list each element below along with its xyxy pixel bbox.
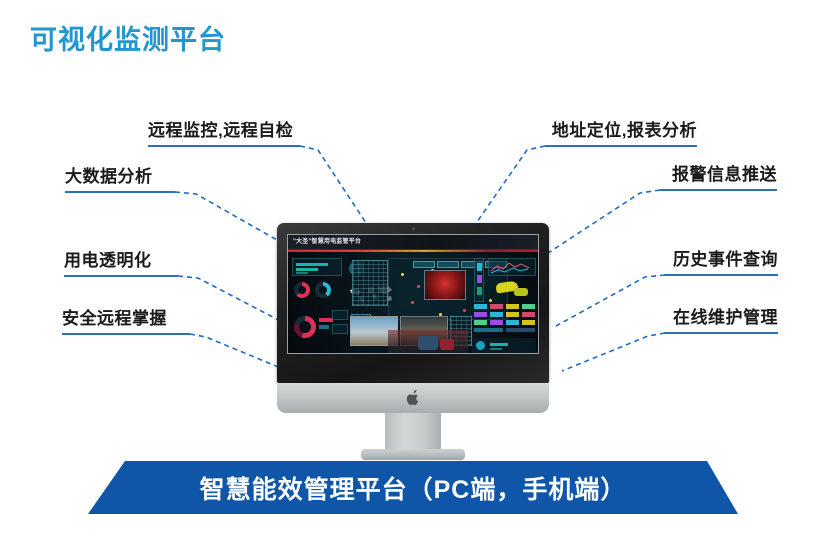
feature-location-report[interactable]: 地址定位,报表分析 <box>545 120 697 147</box>
connector-remote-safety <box>190 334 288 371</box>
feature-label: 安全远程掌握 <box>62 308 190 330</box>
connector-location-report <box>470 146 545 232</box>
feature-underline <box>545 145 697 147</box>
feature-underline <box>664 332 778 334</box>
feature-power-transparency[interactable]: 用电透明化 <box>64 250 178 277</box>
monitor-screen[interactable]: "大圣"智慧用电监管平台 <box>287 234 539 354</box>
widget-tile-b <box>332 324 348 334</box>
dashboard-title: "大圣"智慧用电监管平台 <box>293 236 361 245</box>
feature-history-query[interactable]: 历史事件查询 <box>664 249 778 276</box>
monitor-chin <box>277 383 549 413</box>
feature-big-data-analysis[interactable]: 大数据分析 <box>65 166 175 193</box>
page-title: 可视化监测平台 <box>30 18 226 57</box>
feature-label: 报警信息推送 <box>660 164 777 186</box>
feature-label: 在线维护管理 <box>664 307 778 329</box>
dashboard-header: "大圣"智慧用电监管平台 <box>288 235 538 250</box>
feature-label: 用电透明化 <box>64 250 178 272</box>
widget-grid-table <box>352 260 388 306</box>
feature-remote-monitoring[interactable]: 远程监控,远程自检 <box>148 120 300 147</box>
monitor-stand-base <box>361 449 465 460</box>
dashboard-tab-0[interactable] <box>413 261 435 268</box>
feature-label: 大数据分析 <box>65 166 175 188</box>
dashboard-tab-1[interactable] <box>437 261 459 268</box>
widget-donut-row <box>292 280 346 302</box>
feature-alarm-push[interactable]: 报警信息推送 <box>660 164 777 191</box>
feature-label: 历史事件查询 <box>664 249 778 271</box>
monitor-bezel: "大圣"智慧用电监管平台 <box>277 223 549 383</box>
widget-line-chart <box>488 258 536 276</box>
feature-underline <box>148 145 300 147</box>
feature-label: 地址定位,报表分析 <box>545 120 697 142</box>
feature-underline <box>664 274 778 276</box>
monitor-stand-neck <box>385 413 441 453</box>
webcam-icon <box>412 227 415 230</box>
poster-canvas: 可视化监测平台 远程监控,远程自检 大数据分析 用电透明化 安全远程掌握 <box>0 0 820 546</box>
banner-text: 智慧能效管理平台（PC端，手机端） <box>88 461 738 514</box>
imac-desktop-monitor: "大圣"智慧用电监管平台 <box>277 223 549 383</box>
widget-donut-large <box>292 310 336 350</box>
widget-trend-panel <box>292 258 342 276</box>
feature-underline <box>64 275 178 277</box>
widget-footer-strip <box>472 338 536 354</box>
widget-lower-scene <box>388 330 468 354</box>
widget-3d-object <box>488 278 536 302</box>
bottom-banner: 智慧能效管理平台（PC端，手机端） <box>88 461 738 514</box>
feature-underline <box>660 189 777 191</box>
feature-remote-safety-control[interactable]: 安全远程掌握 <box>62 308 190 335</box>
feature-underline <box>62 333 190 335</box>
connector-remote-monitoring <box>300 146 372 232</box>
feature-underline <box>65 191 175 193</box>
dashboard-body <box>288 252 538 354</box>
connector-history-query <box>556 275 665 326</box>
apple-logo <box>405 389 421 407</box>
connector-alarm-push <box>548 190 660 253</box>
widget-side-gauge <box>474 258 484 302</box>
widget-alert-image <box>424 270 466 300</box>
feature-label: 远程监控,远程自检 <box>148 120 300 142</box>
connector-online-maintenance <box>562 333 665 371</box>
widget-status-tiles <box>474 304 536 334</box>
widget-tile-a <box>332 310 348 320</box>
feature-online-maintenance[interactable]: 在线维护管理 <box>664 307 778 334</box>
connector-power-transparency <box>178 276 290 326</box>
